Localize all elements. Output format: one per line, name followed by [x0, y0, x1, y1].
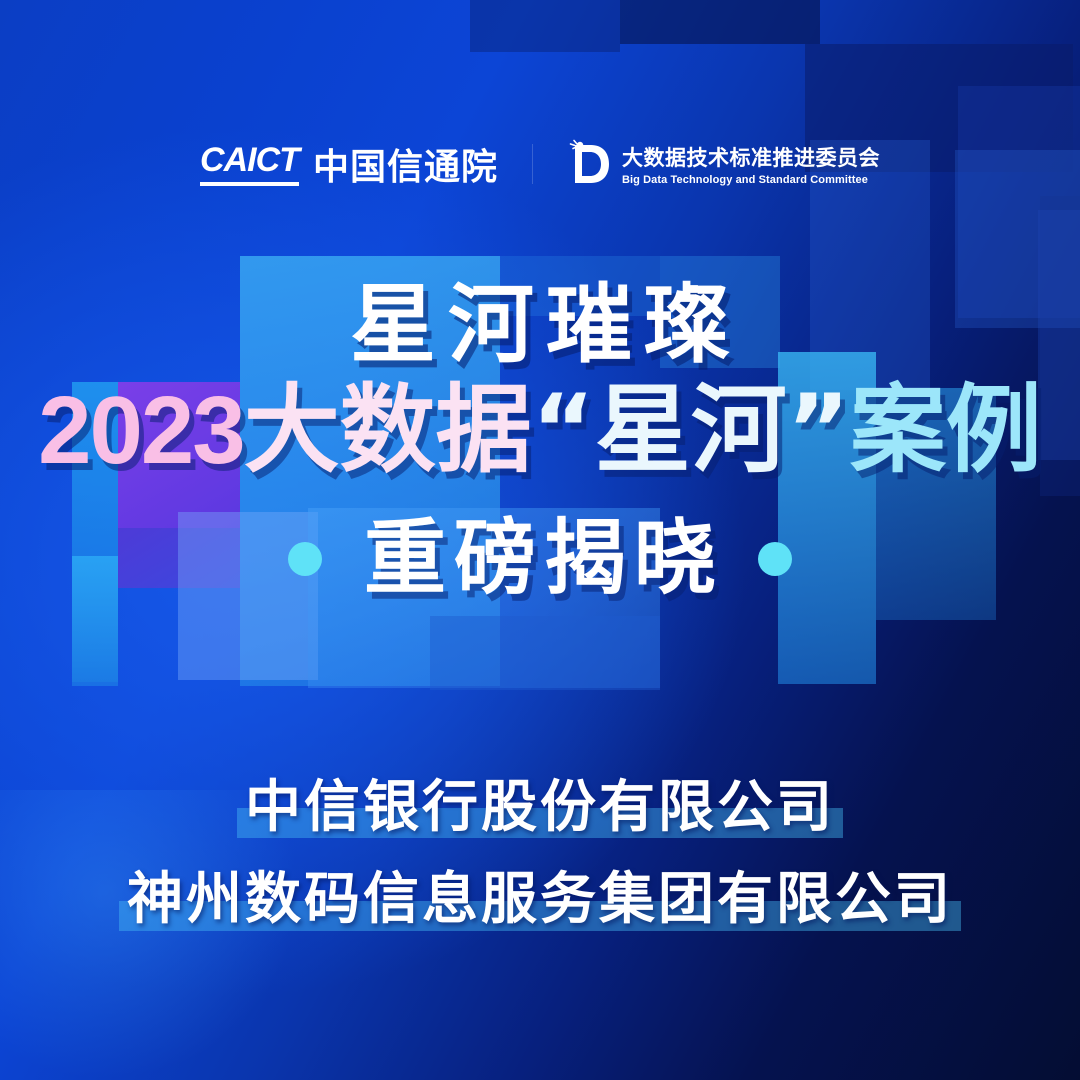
- cyan-dot-icon-right: [758, 542, 792, 576]
- bg-block-lower-band: [430, 616, 660, 690]
- headline-segment-case: 案例: [850, 374, 1042, 486]
- headline-line-2: 2023大数据“星河”案例: [0, 380, 1080, 482]
- logo-bdsc: 大数据技术标准推进委员会 Big Data Technology and Sta…: [567, 139, 880, 189]
- bdsc-d-logo-icon: [567, 139, 611, 189]
- winner-list: 中信银行股份有限公司 神州数码信息服务集团有限公司: [0, 776, 1080, 961]
- headline-year: 2023: [38, 377, 244, 484]
- caict-wordmark-icon: CAICT: [200, 143, 299, 186]
- winner-name: 中信银行股份有限公司: [245, 775, 835, 840]
- headline-segment-bigdata: 大数据: [244, 374, 532, 486]
- bdsc-text-block: 大数据技术标准推进委员会 Big Data Technology and Sta…: [622, 142, 880, 186]
- logo-divider: [532, 144, 533, 184]
- bdsc-chinese-name: 大数据技术标准推进委员会: [622, 142, 880, 172]
- headline-line-3-row: 重磅揭晓: [0, 514, 1080, 604]
- logo-caict: CAICT 中国信通院: [200, 138, 498, 190]
- bdsc-english-name: Big Data Technology and Standard Committ…: [622, 174, 880, 186]
- caict-chinese-name: 中国信通院: [313, 138, 498, 190]
- bg-block-navy-top-a: [620, 0, 820, 44]
- caict-wordmark-text: CAICT: [200, 143, 299, 177]
- winner-row: 神州数码信息服务集团有限公司: [127, 868, 953, 932]
- bg-block-navy-top-b: [470, 0, 620, 52]
- winner-name: 神州数码信息服务集团有限公司: [127, 867, 953, 932]
- poster-canvas: CAICT 中国信通院 大数据技术标准推进委员会 Big Data Techno…: [0, 0, 1080, 1080]
- caict-underline-rule: [200, 182, 299, 186]
- headline-segment-galaxy: “星河”: [532, 374, 850, 486]
- headline-block: 星河璀璨 2023大数据“星河”案例 重磅揭晓: [0, 282, 1080, 604]
- headline-line-1: 星河璀璨: [0, 282, 1080, 368]
- headline-line-3: 重磅揭晓: [356, 514, 724, 604]
- cyan-dot-icon-left: [288, 542, 322, 576]
- header-logo-bar: CAICT 中国信通院 大数据技术标准推进委员会 Big Data Techno…: [0, 138, 1080, 190]
- winner-row: 中信银行股份有限公司: [245, 776, 835, 840]
